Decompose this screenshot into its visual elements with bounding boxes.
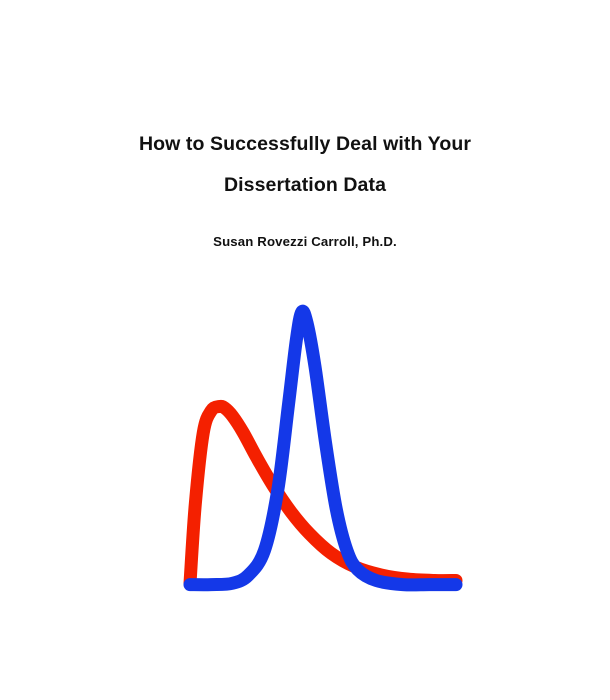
title-line-2: Dissertation Data bbox=[0, 165, 610, 206]
distribution-curves-figure bbox=[0, 290, 610, 610]
chart-series-group bbox=[190, 311, 456, 585]
title-line-1: How to Successfully Deal with Your bbox=[0, 124, 610, 165]
page-canvas: How to Successfully Deal with Your Disse… bbox=[0, 0, 610, 700]
distribution-chart-svg bbox=[0, 290, 610, 610]
author-name: Susan Rovezzi Carroll, Ph.D. bbox=[0, 234, 610, 249]
page-title: How to Successfully Deal with Your Disse… bbox=[0, 124, 610, 206]
